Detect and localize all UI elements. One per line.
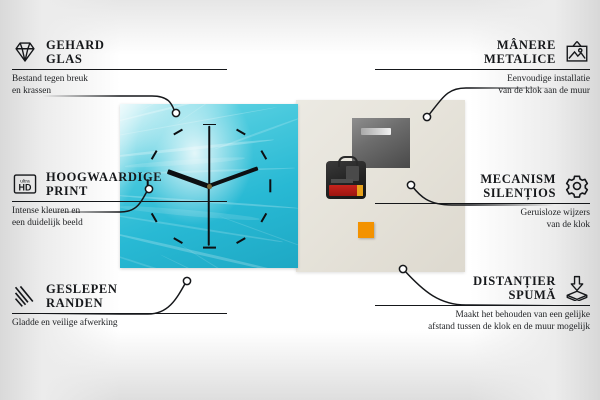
feature-title: MÂNERE METALICE: [484, 38, 556, 66]
feature-divider: [375, 203, 590, 204]
foam-spacer-icon: [564, 275, 590, 301]
ultra-hd-badge-icon: ultra HD: [12, 171, 38, 197]
feature-gehard-glas[interactable]: GEHARD GLAS Bestand tegen breuk en krass…: [12, 38, 227, 97]
feature-hoogwaardige-print[interactable]: ultra HD HOOGWAARDIGE PRINT Intense kleu…: [12, 170, 227, 229]
feature-header: ultra HD HOOGWAARDIGE PRINT: [12, 170, 227, 198]
hanger-slot: [361, 128, 391, 135]
clock-tick: [203, 247, 216, 249]
svg-text:HD: HD: [19, 183, 32, 193]
feature-geslepen-randen[interactable]: GESLEPEN RANDEN Gladde en veilige afwerk…: [12, 282, 227, 330]
feature-divider: [12, 313, 227, 314]
picture-frame-icon: [564, 39, 590, 65]
feature-divider: [375, 305, 590, 306]
feature-manere-metalice[interactable]: MÂNERE METALICE Eenvoudige installatie v…: [375, 38, 590, 97]
clock-tick: [173, 237, 182, 243]
feature-header: GESLEPEN RANDEN: [12, 282, 227, 310]
feature-title: DISTANȚIER SPUMĂ: [473, 274, 556, 302]
clock-mechanism-box: [326, 161, 366, 199]
clock-tick: [236, 237, 245, 243]
feature-title: GESLEPEN RANDEN: [46, 282, 118, 310]
feature-header: MÂNERE METALICE: [375, 38, 590, 66]
feature-description: Maakt het behouden van een gelijke afsta…: [375, 310, 590, 333]
clock-tick: [151, 150, 157, 159]
clock-tick: [236, 128, 245, 134]
battery-cap: [357, 185, 363, 196]
feature-description: Eenvoudige installatie van de klok aan d…: [375, 74, 590, 97]
feature-distantier-spuma[interactable]: DISTANȚIER SPUMĂ Maakt het behouden van …: [375, 274, 590, 333]
feature-description: Geruisloze wijzers van de klok: [375, 208, 590, 231]
clock-tick: [260, 213, 266, 222]
feature-description: Intense kleuren en een duidelijk beeld: [12, 206, 227, 229]
feature-divider: [12, 69, 227, 70]
mechanism-bar: [331, 179, 353, 183]
foam-spacer-square: [358, 222, 374, 238]
feature-title: HOOGWAARDIGE PRINT: [46, 170, 162, 198]
clock-tick: [260, 150, 266, 159]
diamond-icon: [12, 39, 38, 65]
feature-header: DISTANȚIER SPUMĂ: [375, 274, 590, 302]
feature-header: MECANISM SILENȚIOS: [375, 172, 590, 200]
battery: [329, 185, 363, 196]
feature-description: Bestand tegen breuk en krassen: [12, 74, 227, 97]
feature-divider: [375, 69, 590, 70]
feature-description: Gladde en veilige afwerking: [12, 318, 227, 330]
feature-title: MECANISM SILENȚIOS: [480, 172, 556, 200]
clock-tick: [173, 128, 182, 134]
feature-divider: [12, 201, 227, 202]
infographic-canvas: GEHARD GLAS Bestand tegen breuk en krass…: [0, 0, 600, 400]
feature-header: GEHARD GLAS: [12, 38, 227, 66]
clock-tick: [270, 179, 272, 192]
feature-mecanism-silentios[interactable]: MECANISM SILENȚIOS Geruisloze wijzers va…: [375, 172, 590, 231]
beveled-edges-icon: [12, 283, 38, 309]
feature-title: GEHARD GLAS: [46, 38, 104, 66]
gear-icon: [564, 173, 590, 199]
